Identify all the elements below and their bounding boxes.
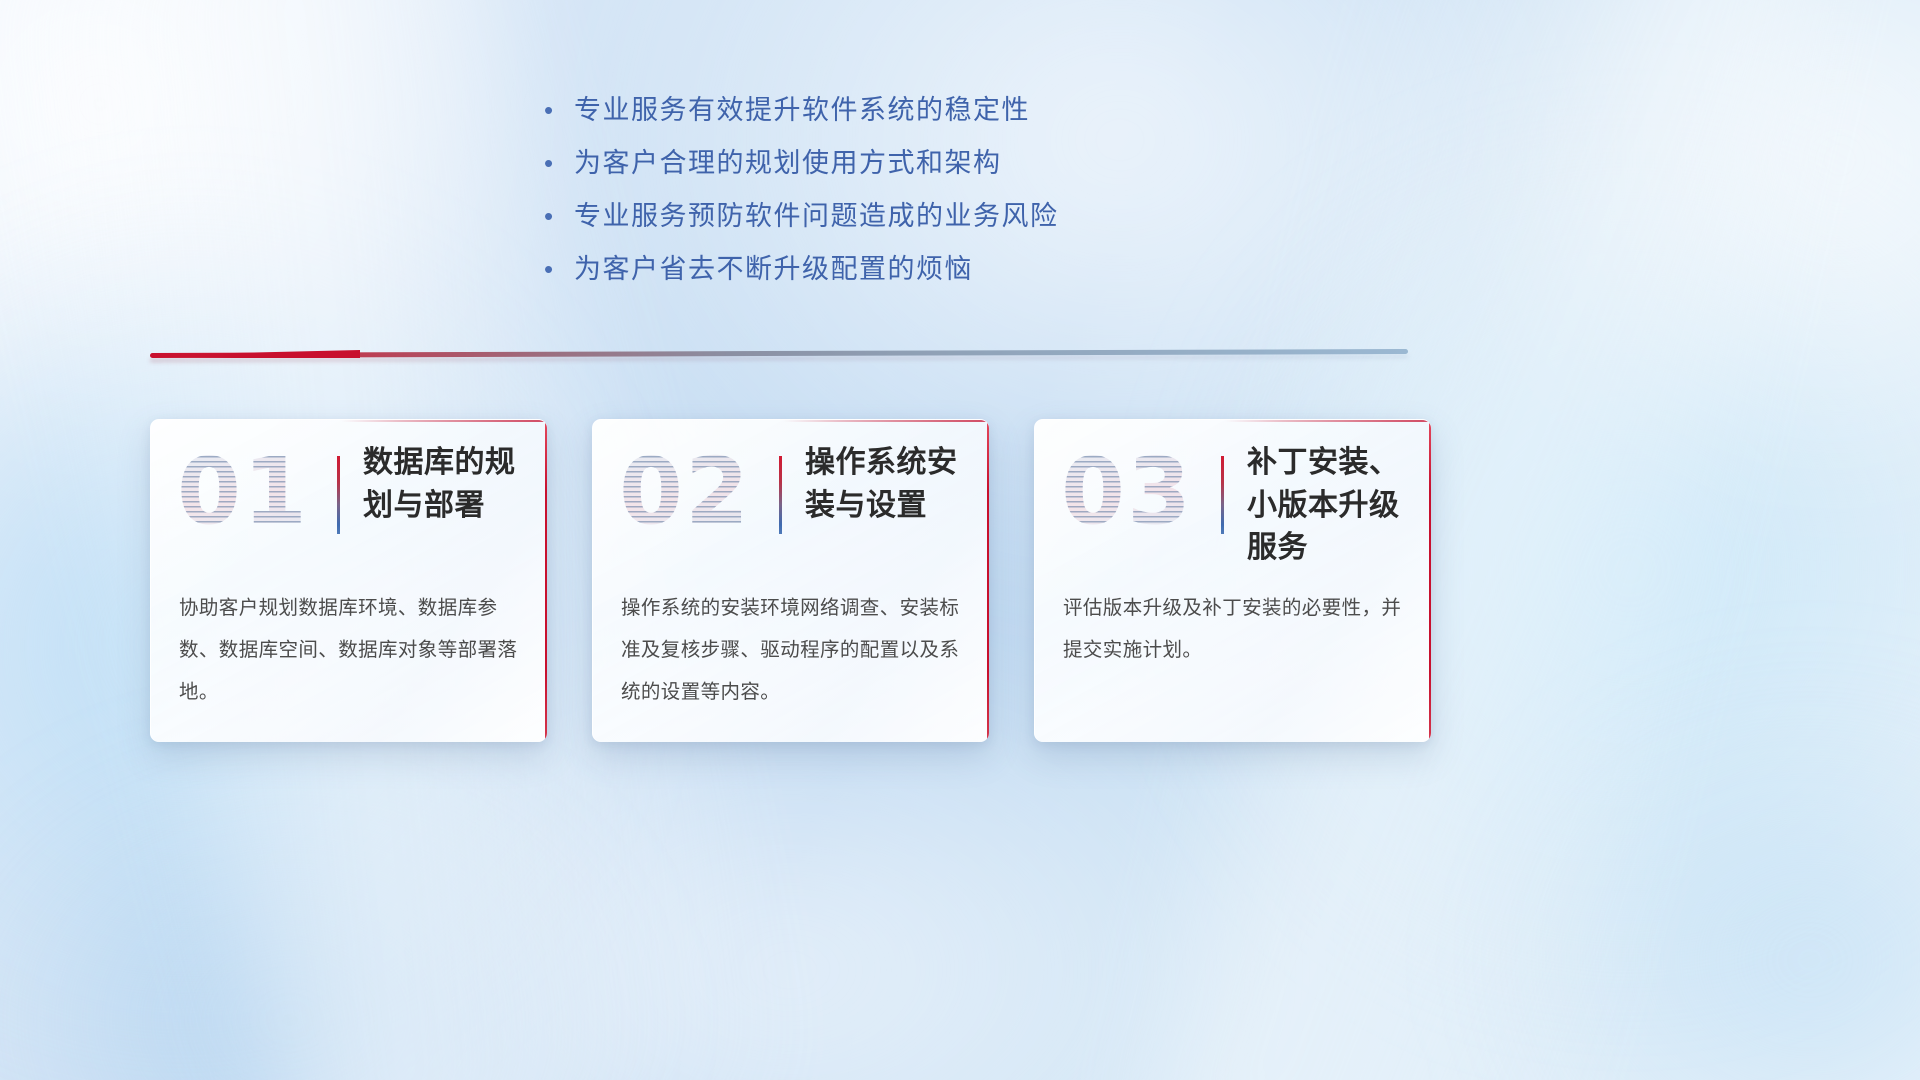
bullet-text-4: 为客户省去不断升级配置的烦恼	[574, 247, 973, 286]
bullet-item-3: • 专业服务预防软件问题造成的业务风险	[540, 194, 1360, 247]
card-number-03: 03	[1061, 446, 1193, 538]
card-title-01: 数据库的规划与部署	[363, 442, 535, 527]
service-card-list: 01 01 数据库的规划与部署 协助客户规划数据库环境、数据库参数、数据库空间、…	[150, 419, 1431, 742]
card-header: 03 03 补丁安装、小版本升级服务	[1035, 420, 1431, 570]
bullet-item-1: • 专业服务有效提升软件系统的稳定性	[540, 88, 1360, 141]
service-card-01[interactable]: 01 01 数据库的规划与部署 协助客户规划数据库环境、数据库参数、数据库空间、…	[150, 419, 547, 742]
bullet-text-3: 专业服务预防软件问题造成的业务风险	[574, 194, 1059, 233]
card-body-03: 评估版本升级及补丁安装的必要性，并提交实施计划。	[1063, 588, 1407, 672]
bullet-item-4: • 为客户省去不断升级配置的烦恼	[540, 247, 1360, 300]
service-card-03[interactable]: 03 03 补丁安装、小版本升级服务 评估版本升级及补丁安装的必要性，并提交实施…	[1034, 419, 1431, 742]
card-title-divider	[337, 456, 340, 534]
benefits-bullet-list: • 专业服务有效提升软件系统的稳定性 • 为客户合理的规划使用方式和架构 • 专…	[540, 88, 1360, 300]
card-title-divider	[779, 456, 782, 534]
service-card-02[interactable]: 02 02 操作系统安装与设置 操作系统的安装环境网络调查、安装标准及复核步骤、…	[592, 419, 989, 742]
card-header: 02 02 操作系统安装与设置	[593, 420, 989, 570]
bullet-dot-icon: •	[540, 150, 574, 176]
bullet-text-2: 为客户合理的规划使用方式和架构	[574, 141, 1002, 180]
bullet-dot-icon: •	[540, 97, 574, 123]
bullet-item-2: • 为客户合理的规划使用方式和架构	[540, 141, 1360, 194]
card-number-01: 01	[177, 446, 309, 538]
bullet-text-1: 专业服务有效提升软件系统的稳定性	[574, 88, 1030, 127]
bullet-dot-icon: •	[540, 203, 574, 229]
bullet-dot-icon: •	[540, 256, 574, 282]
card-body-02: 操作系统的安装环境网络调查、安装标准及复核步骤、驱动程序的配置以及系统的设置等内…	[621, 588, 965, 714]
card-title-divider	[1221, 456, 1224, 534]
card-header: 01 01 数据库的规划与部署	[151, 420, 547, 570]
card-title-02: 操作系统安装与设置	[805, 442, 977, 527]
card-title-03: 补丁安装、小版本升级服务	[1247, 442, 1419, 570]
card-number-02: 02	[619, 446, 751, 538]
decorative-separator-line	[150, 346, 1408, 362]
card-body-01: 协助客户规划数据库环境、数据库参数、数据库空间、数据库对象等部署落地。	[179, 588, 523, 714]
